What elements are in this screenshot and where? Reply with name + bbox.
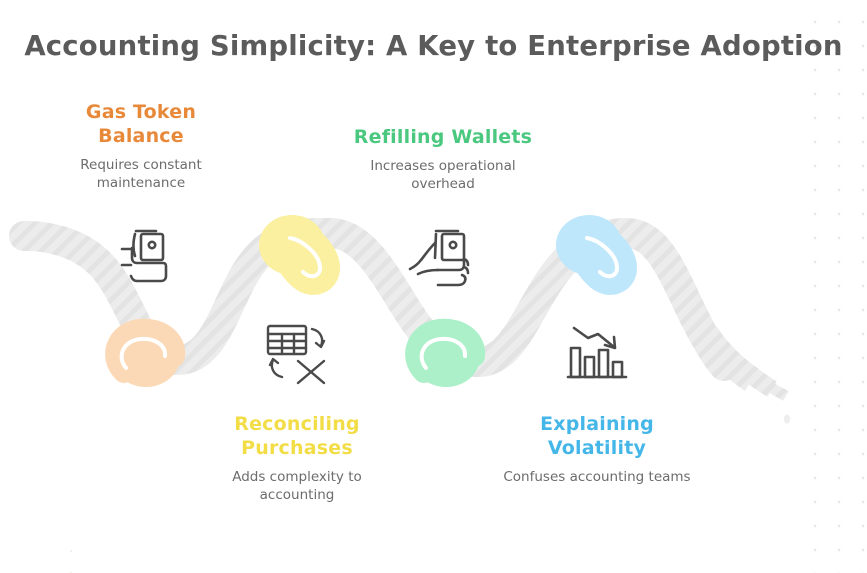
- label-title-reconciling-purchases: Reconciling Purchases: [197, 412, 397, 460]
- label-description-gas-token-balance: Requires constant maintenance: [41, 156, 241, 192]
- label-title-gas-token-balance: Gas Token Balance: [41, 100, 241, 148]
- knot-marker-green: [412, 327, 480, 387]
- label-group-reconciling-purchases: Reconciling Purchases Adds complexity to…: [197, 412, 397, 504]
- label-group-gas-token-balance: Gas Token Balance Requires constant main…: [41, 100, 241, 192]
- label-description-reconciling-purchases: Adds complexity to accounting: [197, 468, 397, 504]
- label-title-explaining-volatility: Explaining Volatility: [497, 412, 697, 460]
- label-title-refilling-wallets: Refilling Wallets: [343, 125, 543, 149]
- declining-bar-chart-icon: [560, 315, 636, 391]
- label-group-explaining-volatility: Explaining Volatility Confuses accountin…: [497, 412, 697, 486]
- hand-holding-bill-icon: [406, 218, 482, 294]
- knot-marker-orange: [112, 327, 180, 387]
- label-description-explaining-volatility: Confuses accounting teams: [497, 468, 697, 486]
- spreadsheet-reconcile-icon: [260, 315, 336, 391]
- infographic-canvas: Accounting Simplicity: A Key to Enterpri…: [0, 0, 867, 573]
- label-group-refilling-wallets: Refilling Wallets Increases operational …: [343, 125, 543, 193]
- hand-holding-money-icon: [106, 218, 182, 294]
- label-description-refilling-wallets: Increases operational overhead: [343, 157, 543, 193]
